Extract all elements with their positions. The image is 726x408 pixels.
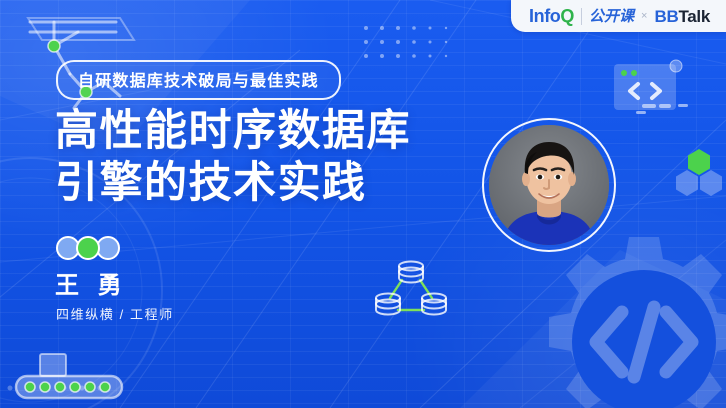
open-class-logo: 公开课: [589, 9, 634, 24]
bbtalk-logo: BBTalk: [654, 8, 710, 25]
bbtalk-logo-talk: Talk: [678, 7, 710, 26]
dot-row-icon: [0, 378, 120, 408]
three-circles-mark-icon: [55, 236, 121, 260]
bbtalk-logo-bb: BB: [654, 7, 678, 26]
cross-symbol: ×: [641, 11, 647, 22]
speaker-name: 王 勇: [55, 265, 128, 300]
gear-code-icon: [514, 227, 726, 408]
avatar-portrait-illustration: [489, 125, 609, 245]
database-cluster-icon: [372, 258, 450, 332]
avatar-photo: [489, 125, 609, 245]
logo-divider: [581, 8, 582, 25]
infoq-logo-q: Q: [560, 6, 574, 26]
dot-matrix-small-icon: [678, 322, 726, 370]
logo-bar: InfoQ 公开课 × BBTalk: [511, 0, 726, 32]
webinar-poster: InfoQ 公开课 × BBTalk 自研数据库技术破局与最佳实践 高性能时序数…: [0, 0, 726, 408]
code-window-icon: [612, 58, 688, 120]
page-title-line-1: 高性能时序数据库: [55, 105, 411, 157]
speaker-avatar: [482, 118, 616, 252]
speaker-role: 四维纵横 / 工程师: [56, 304, 174, 323]
page-title: 高性能时序数据库 引擎的技术实践: [55, 105, 411, 210]
hexagon-cluster-icon: [672, 148, 726, 200]
page-title-line-2: 引擎的技术实践: [55, 157, 411, 209]
conveyor-belt-icon: [14, 352, 134, 408]
series-badge: 自研数据库技术破局与最佳实践: [56, 60, 341, 100]
dot-matrix-icon: [362, 24, 466, 64]
infoq-logo-info: Info: [529, 6, 560, 26]
infoq-logo: InfoQ: [529, 7, 574, 25]
